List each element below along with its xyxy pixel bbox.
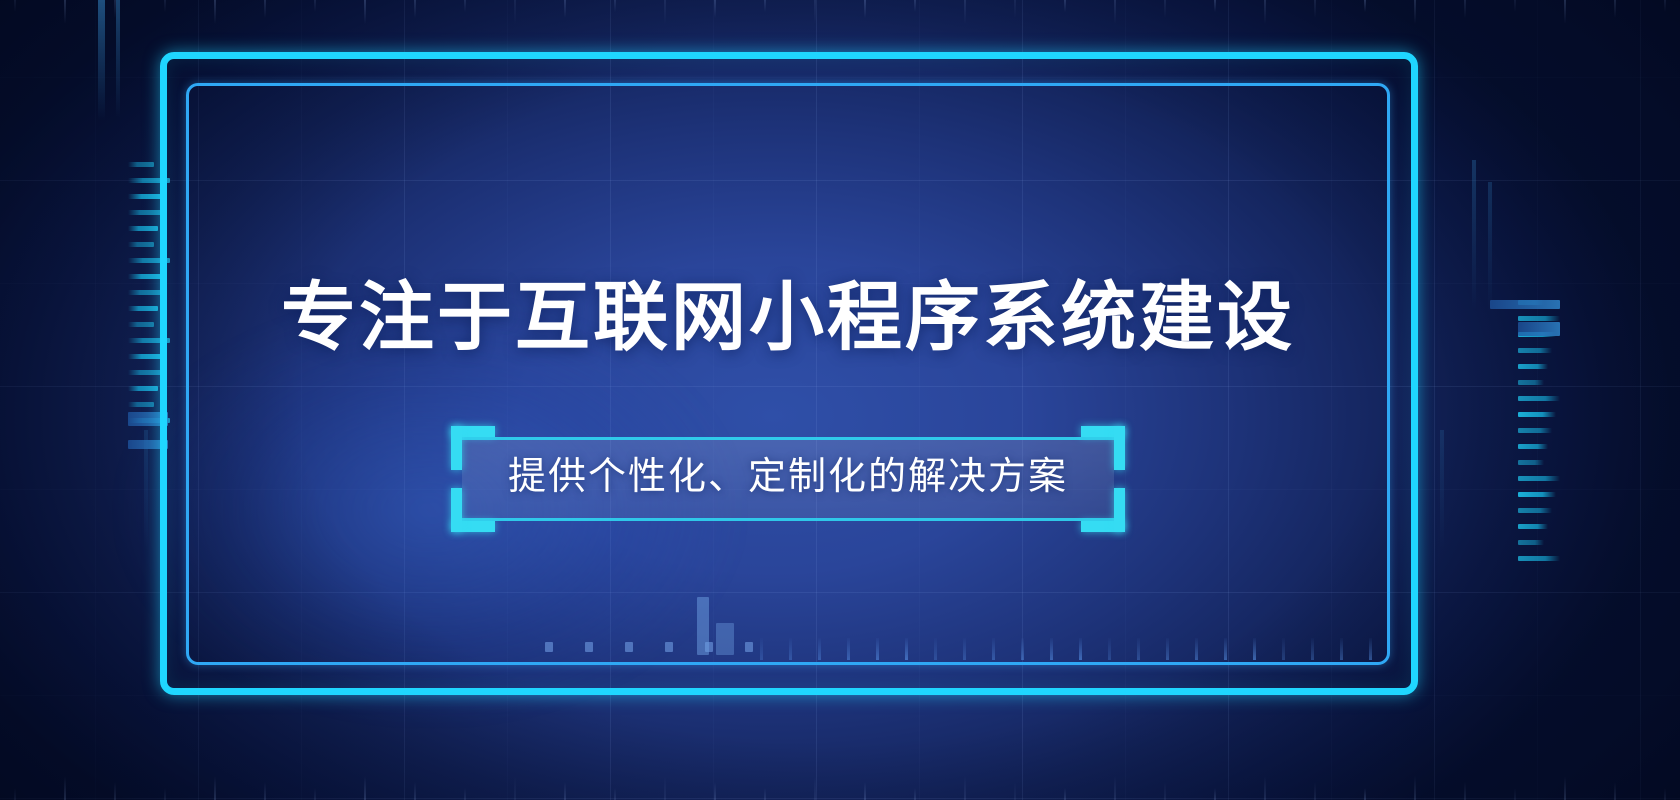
right-tick-stack bbox=[1518, 300, 1560, 600]
subtitle-block: 提供个性化、定制化的解决方案 bbox=[462, 437, 1114, 521]
subtitle-box: 提供个性化、定制化的解决方案 bbox=[462, 437, 1114, 521]
corner-bracket-bottom-left-icon bbox=[451, 488, 495, 532]
corner-bracket-top-left-icon bbox=[451, 426, 495, 470]
banner-content: 专注于互联网小程序系统建设 提供个性化、定制化的解决方案 bbox=[186, 83, 1390, 665]
right-slab-1 bbox=[1490, 300, 1560, 309]
banner-stage: 专注于互联网小程序系统建设 提供个性化、定制化的解决方案 bbox=[0, 0, 1680, 800]
corner-bracket-bottom-right-icon bbox=[1081, 488, 1125, 532]
subtitle-text: 提供个性化、定制化的解决方案 bbox=[508, 457, 1068, 499]
accent-bar-left-1 bbox=[98, 0, 105, 120]
right-slab-2 bbox=[1518, 322, 1560, 336]
accent-bar-right-3 bbox=[1440, 430, 1444, 550]
bottom-edge-ticks bbox=[0, 766, 1680, 800]
corner-bracket-top-right-icon bbox=[1081, 426, 1125, 470]
accent-bar-right-2 bbox=[1488, 182, 1492, 312]
accent-bar-right-1 bbox=[1472, 160, 1476, 310]
page-title: 专注于互联网小程序系统建设 bbox=[281, 280, 1295, 355]
top-edge-ticks bbox=[0, 0, 1680, 34]
accent-bar-left-2 bbox=[116, 0, 120, 118]
